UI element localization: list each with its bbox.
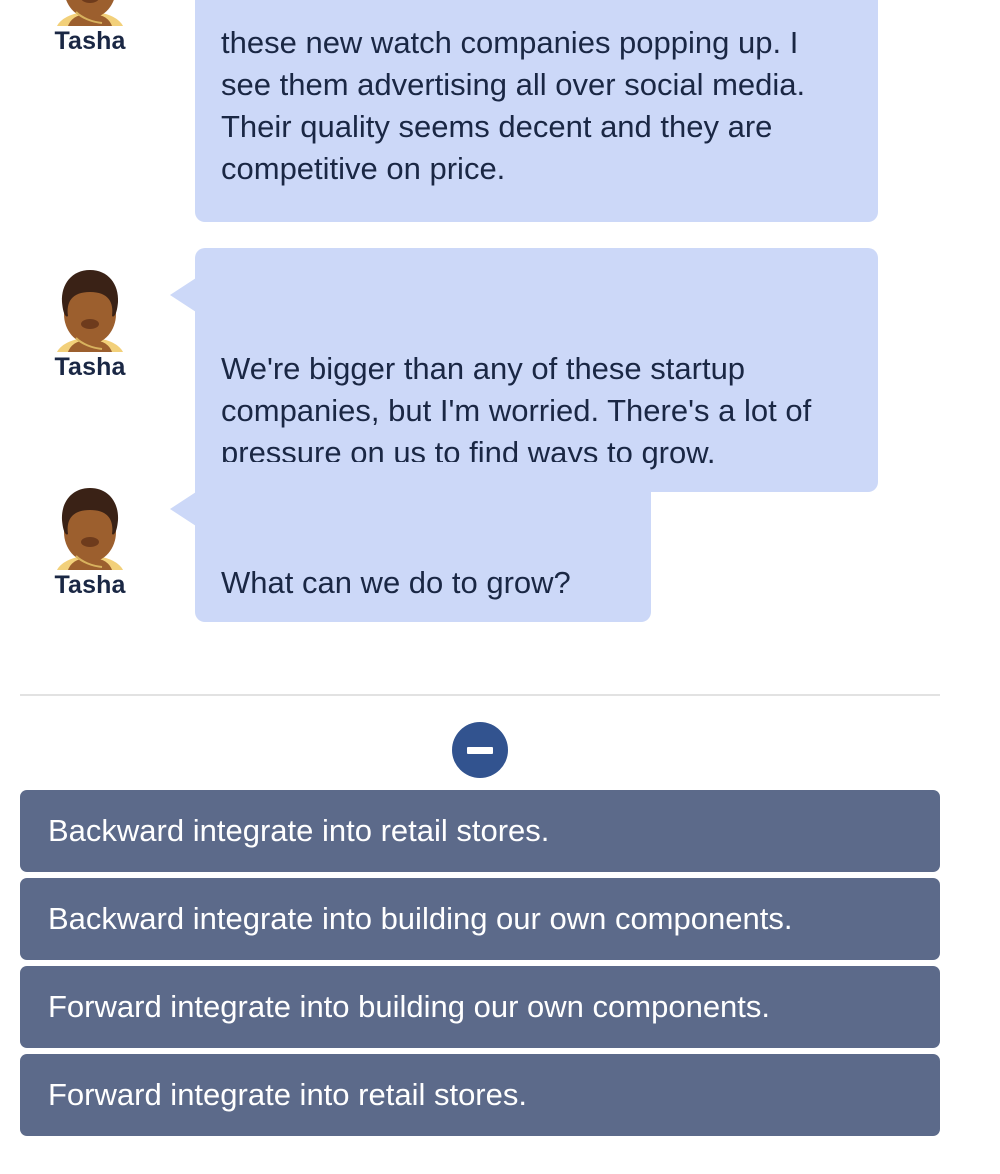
message-bubble-wrap: We're bigger than any of these startup c… [195, 248, 878, 492]
message-bubble: We're bigger than any of these startup c… [195, 248, 878, 492]
minus-icon [467, 747, 493, 754]
avatar-name-label: Tasha [20, 354, 160, 382]
section-divider [20, 694, 940, 696]
bubble-tail-icon [170, 278, 196, 312]
avatar-tasha-icon [48, 248, 132, 352]
message-text: We're bigger than any of these startup c… [221, 351, 811, 470]
avatar-tasha-icon [48, 0, 132, 26]
message-bubble-wrap: these new watch companies popping up. I … [195, 0, 878, 222]
option-button-3[interactable]: Forward integrate into building our own … [20, 966, 940, 1048]
bubble-tail-icon [170, 492, 196, 526]
message-bubble: What can we do to grow? [195, 462, 651, 622]
option-button-2[interactable]: Backward integrate into building our own… [20, 878, 940, 960]
answer-options-list: Backward integrate into retail stores. B… [20, 790, 940, 1142]
message-text: these new watch companies popping up. I … [221, 25, 805, 186]
message-sender: Tasha [20, 466, 160, 600]
message-bubble-wrap: What can we do to grow? [195, 462, 651, 622]
option-button-1[interactable]: Backward integrate into retail stores. [20, 790, 940, 872]
message-sender: Tasha [20, 0, 160, 56]
avatar-tasha-icon [48, 466, 132, 570]
message-sender: Tasha [20, 248, 160, 382]
option-button-4[interactable]: Forward integrate into retail stores. [20, 1054, 940, 1136]
message-bubble: these new watch companies popping up. I … [195, 0, 878, 222]
avatar-name-label: Tasha [20, 28, 160, 56]
avatar-name-label: Tasha [20, 572, 160, 600]
message-text: What can we do to grow? [221, 565, 571, 600]
collapse-button[interactable] [452, 722, 508, 778]
